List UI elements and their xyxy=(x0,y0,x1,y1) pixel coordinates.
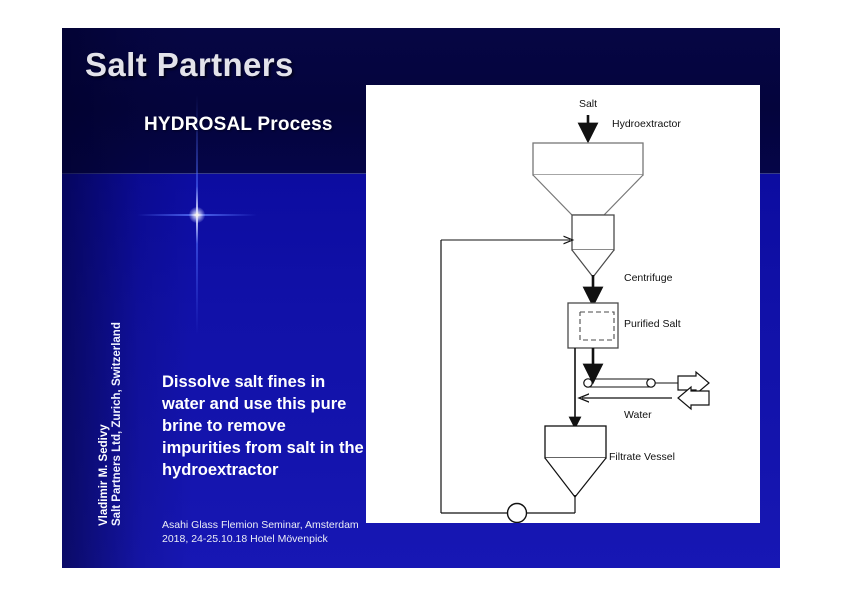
slide-canvas: Salt Partners HYDROSAL Process Dissolve … xyxy=(0,0,842,595)
label-hydroextractor: Hydroextractor xyxy=(612,118,681,130)
node-filtrate-pump xyxy=(508,504,527,523)
label-salt: Salt xyxy=(579,98,597,110)
filtrate-pump-symbol xyxy=(508,504,527,523)
process-flow-diagram: Salt Hydroextractor Centrifuge xyxy=(366,85,760,523)
footer-line-2: 2018, 24-25.10.18 Hotel Mövenpick xyxy=(162,532,392,546)
footer-line-1: Asahi Glass Flemion Seminar, Amsterdam xyxy=(162,518,392,532)
filtrate-vessel-body xyxy=(545,426,606,458)
label-centrifuge: Centrifuge xyxy=(624,272,673,284)
hydroextractor-cone xyxy=(533,175,643,215)
slide-body-statement: Dissolve salt fines in water and use thi… xyxy=(162,371,367,481)
hydroextractor-upper-body xyxy=(533,143,643,175)
process-diagram-panel: Salt Hydroextractor Centrifuge xyxy=(366,85,760,523)
conveyor-pulley-left xyxy=(584,379,592,387)
stream-water-inlet xyxy=(582,387,709,409)
vertical-credit-block: Vladimir M. Sedivy Salt Partners Ltd, Zu… xyxy=(98,296,124,526)
label-purified-salt: Purified Salt xyxy=(624,318,681,330)
presentation-slide: Salt Partners HYDROSAL Process Dissolve … xyxy=(62,28,780,568)
vertical-credit-author: Vladimir M. Sedivy xyxy=(98,296,111,526)
filtrate-vessel-cone xyxy=(545,458,606,497)
conveyor-pulley-right xyxy=(647,379,655,387)
label-water: Water xyxy=(624,409,652,421)
centrifuge-shell xyxy=(568,303,618,348)
node-filtrate-vessel xyxy=(545,426,606,497)
label-filtrate-vessel: Filtrate Vessel xyxy=(609,451,675,463)
slide-title: Salt Partners xyxy=(85,46,294,84)
node-hydroextractor xyxy=(533,143,643,277)
slide-footer-note: Asahi Glass Flemion Seminar, Amsterdam 2… xyxy=(162,518,392,546)
node-centrifuge xyxy=(568,303,618,348)
hydroextractor-lower-cone xyxy=(572,250,614,277)
hydroextractor-neck xyxy=(572,215,614,250)
vertical-credit-company: Salt Partners Ltd, Zurich, Switzerland xyxy=(111,296,124,526)
slide-subtitle: HYDROSAL Process xyxy=(144,114,333,136)
